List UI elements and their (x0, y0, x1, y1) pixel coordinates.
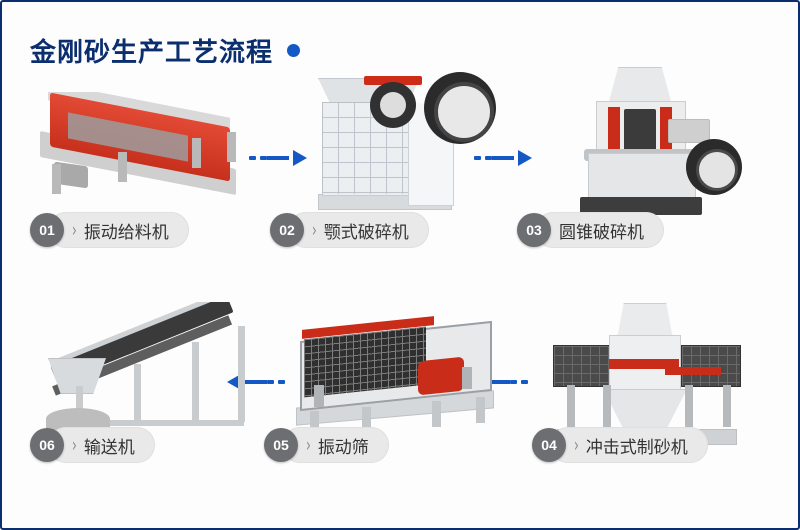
step-02-label-row: 02 › 颚式破碎机 (270, 212, 429, 248)
cone-crusher-icon (562, 57, 762, 222)
vibrating-screen-icon (292, 307, 502, 447)
step-04-number: 04 (532, 428, 566, 462)
arrow-02-to-03 (474, 150, 532, 166)
page-title: 金刚砂生产工艺流程 (30, 32, 300, 69)
chevron-right-icon: › (72, 434, 77, 456)
step-01-vibrating-feeder (22, 92, 252, 212)
step-04-pill[interactable]: › 冲击式制砂机 (550, 427, 708, 463)
flowchart-canvas: 金刚砂生产工艺流程 01 › 振动给料机 (0, 0, 800, 530)
step-03-cone-crusher (562, 57, 762, 217)
step-02-number: 02 (270, 213, 304, 247)
jaw-crusher-icon (312, 60, 502, 215)
step-03-pill[interactable]: 圆锥破碎机 (535, 212, 664, 248)
chevron-right-icon: › (312, 219, 317, 241)
step-01-number: 01 (30, 213, 64, 247)
step-01-label-row: 01 › 振动给料机 (30, 212, 189, 248)
step-01-label: 振动给料机 (84, 218, 169, 243)
step-02-label: 颚式破碎机 (324, 218, 409, 243)
step-05-vibrating-screen (292, 307, 502, 442)
step-02-jaw-crusher (312, 60, 502, 215)
bullet-dot-icon (287, 44, 300, 57)
step-03-label-row: 03 圆锥破碎机 (517, 212, 664, 248)
step-04-label: 冲击式制砂机 (586, 433, 688, 458)
step-06-pill[interactable]: › 输送机 (48, 427, 155, 463)
belt-conveyor-icon (42, 302, 257, 447)
step-02-pill[interactable]: › 颚式破碎机 (288, 212, 429, 248)
step-06-label-row: 06 › 输送机 (30, 427, 155, 463)
chevron-right-icon: › (306, 434, 311, 456)
step-01-pill[interactable]: › 振动给料机 (48, 212, 189, 248)
step-06-label: 输送机 (84, 433, 135, 458)
step-03-number: 03 (517, 213, 551, 247)
step-05-label: 振动筛 (318, 433, 369, 458)
step-05-label-row: 05 › 振动筛 (264, 427, 389, 463)
vibrating-feeder-icon (22, 92, 252, 212)
arrow-01-to-02 (249, 150, 307, 166)
step-03-label: 圆锥破碎机 (559, 218, 644, 243)
step-04-label-row: 04 › 冲击式制砂机 (532, 427, 708, 463)
step-05-pill[interactable]: › 振动筛 (282, 427, 389, 463)
page-title-text: 金刚砂生产工艺流程 (30, 32, 273, 69)
step-06-number: 06 (30, 428, 64, 462)
step-05-number: 05 (264, 428, 298, 462)
step-06-belt-conveyor (42, 302, 257, 442)
chevron-right-icon: › (72, 219, 77, 241)
chevron-right-icon: › (574, 434, 579, 456)
